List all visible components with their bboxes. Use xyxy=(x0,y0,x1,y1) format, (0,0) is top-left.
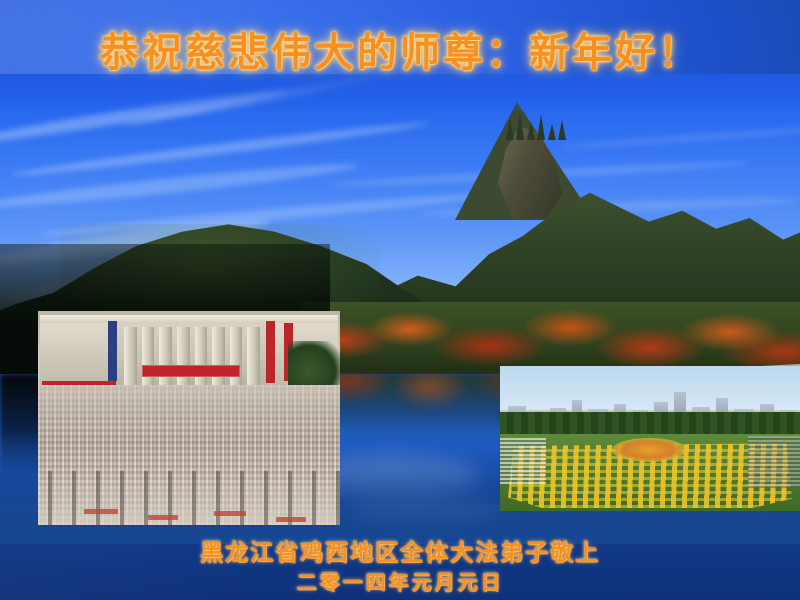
exercise-mat xyxy=(84,509,118,514)
building-left-wing xyxy=(40,323,116,389)
date-line: 二零一四年元月元日 xyxy=(0,566,800,595)
exercise-mat xyxy=(148,515,178,520)
inset-photo-character-formation xyxy=(500,366,800,511)
greeting-card: 恭祝慈悲伟大的师尊：新年好！ 黑龙江省鸡西地区全体大法弟子敬上 二零一四年元月元… xyxy=(0,0,800,600)
crowd-haze xyxy=(38,385,340,441)
signature-line: 黑龙江省鸡西地区全体大法弟子敬上 xyxy=(0,533,800,567)
spectators-left xyxy=(500,438,546,484)
vertical-banner-red xyxy=(266,321,275,383)
plaza-trees xyxy=(288,341,340,391)
exercise-mat xyxy=(214,511,246,516)
horizontal-red-banner xyxy=(142,365,240,377)
formation-center-emblem xyxy=(612,438,686,462)
inset-photo-group-exercise xyxy=(38,311,340,525)
spectators-right xyxy=(748,436,800,488)
exercise-mat xyxy=(276,517,306,522)
vertical-banner-blue xyxy=(108,321,117,381)
photo-top-blend xyxy=(0,74,800,114)
greeting-title: 恭祝慈悲伟大的师尊：新年好！ xyxy=(0,20,800,78)
building-colonnade xyxy=(124,327,260,389)
